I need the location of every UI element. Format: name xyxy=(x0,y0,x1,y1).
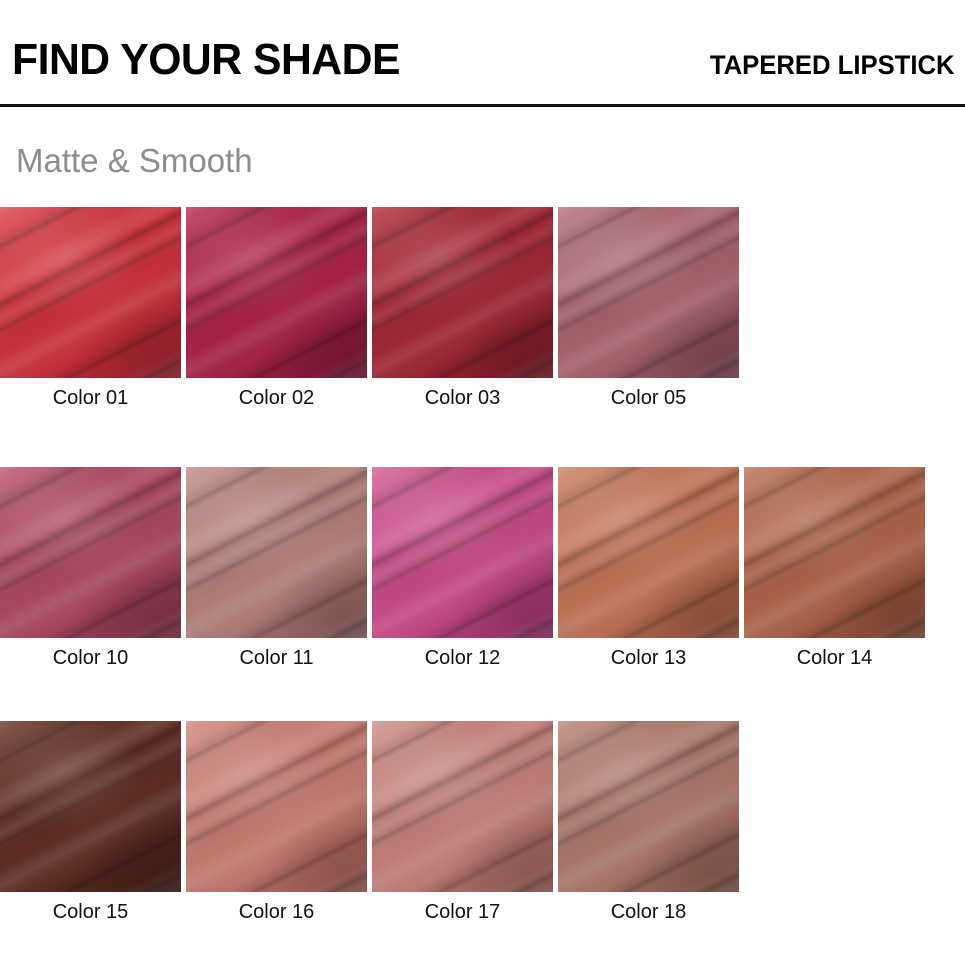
swatch-cell[interactable]: Color 05 xyxy=(558,207,739,408)
swatch-cell[interactable]: Color 18 xyxy=(558,721,739,922)
swatch-row-2: Color 10Color 11Color 12Color 13Color 14 xyxy=(0,467,965,668)
swatch-texture xyxy=(0,721,181,892)
header: FIND YOUR SHADE TAPERED LIPSTICK xyxy=(0,0,965,108)
swatch-row-1: Color 01Color 02Color 03Color 05 xyxy=(0,207,965,408)
swatch-texture xyxy=(372,721,553,892)
color-swatch[interactable] xyxy=(0,721,181,892)
swatch-cell[interactable]: Color 02 xyxy=(186,207,367,408)
shade-chart-page: FIND YOUR SHADE TAPERED LIPSTICK Matte &… xyxy=(0,0,965,965)
section-label: Matte & Smooth xyxy=(16,144,253,177)
swatch-texture xyxy=(558,721,739,892)
color-swatch[interactable] xyxy=(186,207,367,378)
swatch-cell[interactable]: Color 03 xyxy=(372,207,553,408)
color-swatch[interactable] xyxy=(186,721,367,892)
swatch-texture xyxy=(372,207,553,378)
swatch-cell[interactable]: Color 14 xyxy=(744,467,925,668)
swatch-label: Color 01 xyxy=(53,388,129,408)
swatch-cell[interactable]: Color 10 xyxy=(0,467,181,668)
swatch-label: Color 05 xyxy=(611,388,687,408)
swatch-cell[interactable]: Color 13 xyxy=(558,467,739,668)
swatch-texture xyxy=(186,207,367,378)
swatch-texture xyxy=(372,467,553,638)
swatch-label: Color 18 xyxy=(611,902,687,922)
color-swatch[interactable] xyxy=(0,207,181,378)
swatch-row-3: Color 15Color 16Color 17Color 18 xyxy=(0,721,965,922)
swatch-cell[interactable]: Color 17 xyxy=(372,721,553,922)
swatch-texture xyxy=(0,207,181,378)
swatch-label: Color 14 xyxy=(797,648,873,668)
swatch-cell[interactable]: Color 16 xyxy=(186,721,367,922)
swatch-cell[interactable]: Color 12 xyxy=(372,467,553,668)
swatch-texture xyxy=(558,207,739,378)
swatch-texture xyxy=(744,467,925,638)
page-title: FIND YOUR SHADE xyxy=(12,38,400,82)
swatch-label: Color 10 xyxy=(53,648,129,668)
swatch-texture xyxy=(186,721,367,892)
swatch-cell[interactable]: Color 11 xyxy=(186,467,367,668)
swatch-cell[interactable]: Color 01 xyxy=(0,207,181,408)
color-swatch[interactable] xyxy=(0,467,181,638)
header-divider xyxy=(0,104,965,107)
swatch-texture xyxy=(0,467,181,638)
color-swatch[interactable] xyxy=(558,207,739,378)
swatch-label: Color 17 xyxy=(425,902,501,922)
color-swatch[interactable] xyxy=(558,721,739,892)
swatch-texture xyxy=(558,467,739,638)
swatch-texture xyxy=(186,467,367,638)
swatch-label: Color 15 xyxy=(53,902,129,922)
color-swatch[interactable] xyxy=(372,207,553,378)
swatch-label: Color 16 xyxy=(239,902,315,922)
swatch-label: Color 13 xyxy=(611,648,687,668)
swatch-label: Color 02 xyxy=(239,388,315,408)
color-swatch[interactable] xyxy=(186,467,367,638)
swatch-cell[interactable]: Color 15 xyxy=(0,721,181,922)
color-swatch[interactable] xyxy=(372,721,553,892)
color-swatch[interactable] xyxy=(558,467,739,638)
swatch-label: Color 11 xyxy=(239,648,313,668)
swatch-label: Color 12 xyxy=(425,648,501,668)
product-name: TAPERED LIPSTICK xyxy=(710,52,955,79)
color-swatch[interactable] xyxy=(372,467,553,638)
color-swatch[interactable] xyxy=(744,467,925,638)
swatch-label: Color 03 xyxy=(425,388,501,408)
